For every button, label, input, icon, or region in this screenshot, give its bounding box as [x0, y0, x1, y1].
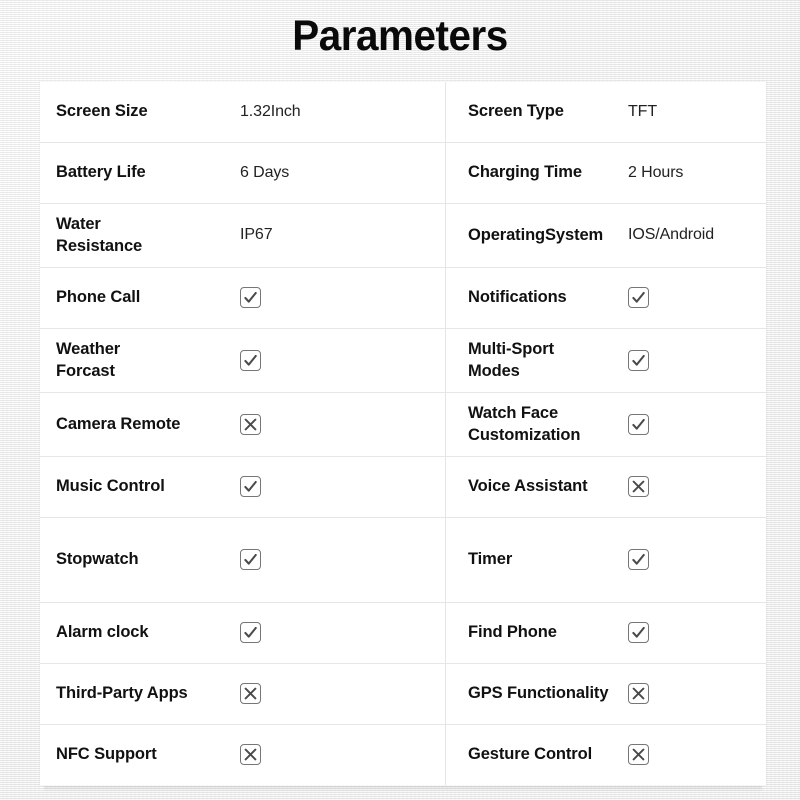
left-label: Water Resistance [40, 214, 240, 256]
table-row: Camera RemoteWatch Face Customization [40, 393, 766, 457]
spec-cell-gps-functionality: GPS Functionality [446, 664, 766, 724]
right-value [628, 287, 738, 308]
checkbox-x-icon[interactable] [240, 744, 261, 765]
right-label: Voice Assistant [446, 476, 628, 497]
checkbox-checked-icon[interactable] [628, 350, 649, 371]
right-label: Screen Type [446, 101, 628, 122]
left-label: Battery Life [40, 162, 240, 183]
spec-cell-voice-assistant: Voice Assistant [446, 457, 766, 517]
left-label: Weather Forcast [40, 339, 240, 381]
page-root: Parameters Screen Size1.32InchScreen Typ… [0, 0, 800, 800]
specifications-table: Screen Size1.32InchScreen TypeTFTBattery… [40, 82, 766, 785]
table-row: Third-Party AppsGPS Functionality [40, 664, 766, 725]
spec-cell-screen-type: Screen TypeTFT [446, 82, 766, 142]
left-label: Music Control [40, 476, 240, 497]
left-value [240, 744, 414, 765]
spec-cell-alarm-clock: Alarm clock [40, 603, 446, 663]
right-label: Watch Face Customization [446, 403, 628, 445]
checkbox-checked-icon[interactable] [240, 549, 261, 570]
left-label: Alarm clock [40, 622, 240, 643]
spec-cell-third-party-apps: Third-Party Apps [40, 664, 446, 724]
checkbox-checked-icon[interactable] [628, 414, 649, 435]
spec-cell-stopwatch: Stopwatch [40, 518, 446, 602]
checkbox-checked-icon[interactable] [628, 549, 649, 570]
spec-cell-notifications: Notifications [446, 268, 766, 328]
spec-cell-camera-remote: Camera Remote [40, 393, 446, 456]
left-value: 6 Days [240, 163, 414, 183]
spec-cell-water-resistance: Water ResistanceIP67 [40, 204, 446, 267]
right-value: IOS/Android [628, 225, 738, 245]
spec-cell-multi-sport-modes: Multi-Sport Modes [446, 329, 766, 392]
spec-cell-phone-call: Phone Call [40, 268, 446, 328]
spec-cell-weather-forcast: Weather Forcast [40, 329, 446, 392]
checkbox-checked-icon[interactable] [628, 287, 649, 308]
right-label: Gesture Control [446, 744, 628, 765]
right-value [628, 476, 738, 497]
checkbox-checked-icon[interactable] [240, 476, 261, 497]
spec-cell-timer: Timer [446, 518, 766, 602]
spec-cell-battery-life: Battery Life6 Days [40, 143, 446, 203]
checkbox-x-icon[interactable] [628, 476, 649, 497]
table-row: NFC SupportGesture Control [40, 725, 766, 785]
left-value [240, 287, 414, 308]
right-value [628, 350, 738, 371]
left-value: 1.32Inch [240, 102, 414, 122]
table-row: Music ControlVoice Assistant [40, 457, 766, 518]
checkbox-checked-icon[interactable] [628, 622, 649, 643]
right-value [628, 622, 738, 643]
left-value [240, 476, 414, 497]
right-value [628, 744, 738, 765]
spec-cell-screen-size: Screen Size1.32Inch [40, 82, 446, 142]
checkbox-checked-icon[interactable] [240, 350, 261, 371]
left-value [240, 414, 414, 435]
right-value [628, 549, 738, 570]
spec-cell-find-phone: Find Phone [446, 603, 766, 663]
left-label: Camera Remote [40, 414, 240, 435]
left-value [240, 622, 414, 643]
checkbox-x-icon[interactable] [628, 744, 649, 765]
checkbox-checked-icon[interactable] [240, 287, 261, 308]
right-label: OperatingSystem [446, 225, 628, 246]
right-value [628, 414, 738, 435]
right-value: TFT [628, 102, 738, 122]
checkbox-checked-icon[interactable] [240, 622, 261, 643]
left-value [240, 350, 414, 371]
table-row: Screen Size1.32InchScreen TypeTFT [40, 82, 766, 143]
spec-cell-watch-face-customization: Watch Face Customization [446, 393, 766, 456]
spec-cell-charging-time: Charging Time2 Hours [446, 143, 766, 203]
spec-cell-operatingsystem: OperatingSystemIOS/Android [446, 204, 766, 267]
right-label: Multi-Sport Modes [446, 339, 628, 381]
left-label: Third-Party Apps [40, 683, 240, 704]
right-label: Find Phone [446, 622, 628, 643]
left-value [240, 683, 414, 704]
right-label: Timer [446, 549, 628, 570]
spec-cell-gesture-control: Gesture Control [446, 725, 766, 785]
left-label: NFC Support [40, 744, 240, 765]
spec-cell-music-control: Music Control [40, 457, 446, 517]
table-row: StopwatchTimer [40, 518, 766, 603]
table-row: Alarm clockFind Phone [40, 603, 766, 664]
table-row: Battery Life6 DaysCharging Time2 Hours [40, 143, 766, 204]
right-value [628, 683, 738, 704]
checkbox-x-icon[interactable] [628, 683, 649, 704]
right-label: Charging Time [446, 162, 628, 183]
table-row: Water ResistanceIP67OperatingSystemIOS/A… [40, 204, 766, 268]
left-value [240, 549, 414, 570]
table-row: Phone CallNotifications [40, 268, 766, 329]
spec-cell-nfc-support: NFC Support [40, 725, 446, 785]
checkbox-x-icon[interactable] [240, 414, 261, 435]
table-row: Weather ForcastMulti-Sport Modes [40, 329, 766, 393]
left-label: Stopwatch [40, 549, 240, 570]
card-shadow [44, 786, 762, 792]
right-label: Notifications [446, 287, 628, 308]
right-label: GPS Functionality [446, 683, 628, 704]
page-title: Parameters [24, 12, 776, 61]
right-value: 2 Hours [628, 163, 738, 183]
left-label: Screen Size [40, 101, 240, 122]
left-value: IP67 [240, 225, 414, 245]
left-label: Phone Call [40, 287, 240, 308]
checkbox-x-icon[interactable] [240, 683, 261, 704]
